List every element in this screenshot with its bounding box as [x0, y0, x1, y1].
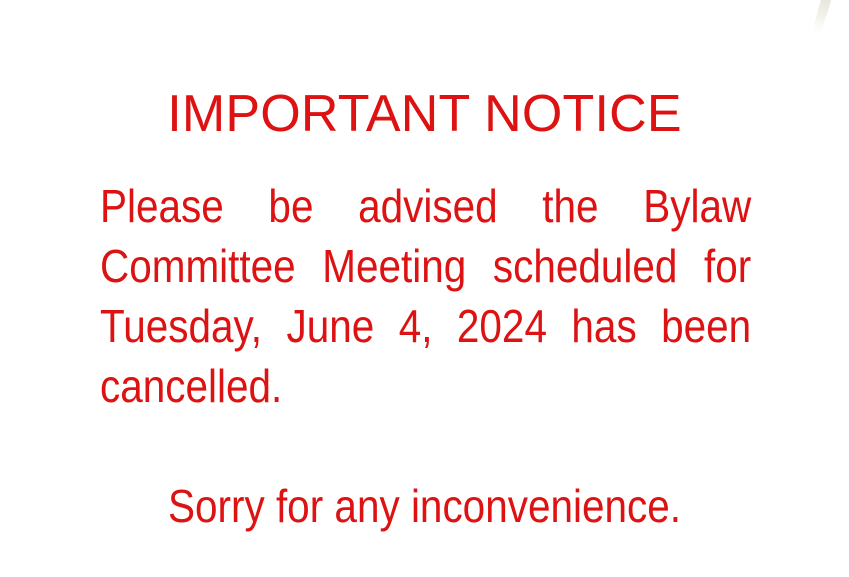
notice-closing-line: Sorry for any inconvenience. [168, 476, 681, 536]
scan-artifact-mark [810, 0, 833, 39]
notice-page: IMPORTANT NOTICE Please be advised the B… [0, 0, 849, 577]
notice-closing-text: Sorry for any inconvenience. [0, 476, 849, 536]
page-title: IMPORTANT NOTICE [0, 85, 849, 143]
notice-body-paragraph: Please be advised the Bylaw Committee Me… [100, 176, 751, 416]
notice-body-text: Please be advised the Bylaw Committee Me… [100, 176, 751, 416]
